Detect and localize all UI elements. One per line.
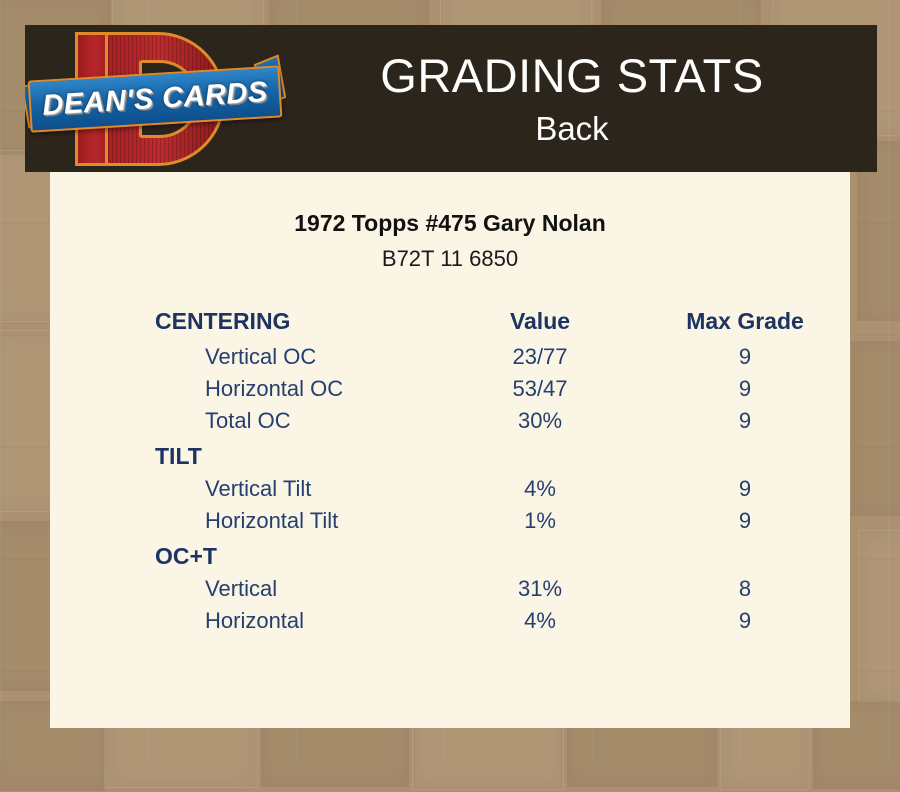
stat-max-grade: 9 (640, 505, 850, 537)
stat-value: 31% (440, 573, 640, 605)
stat-max-grade: 8 (640, 573, 850, 605)
column-header-centering: CENTERING (50, 308, 440, 341)
deans-cards-logo[interactable]: DEAN'S CARDS (25, 25, 287, 172)
logo-wordmark: DEAN'S CARDS (41, 76, 268, 123)
section-label: TILT (50, 437, 850, 473)
stat-label: Vertical Tilt (50, 473, 440, 505)
stat-value: 4% (440, 473, 640, 505)
table-row: Total OC30%9 (50, 405, 850, 437)
table-body: Vertical OC23/779Horizontal OC53/479Tota… (50, 341, 850, 637)
page-title: GRADING STATS (287, 52, 857, 99)
stat-label: Horizontal (50, 605, 440, 637)
header-title-block: GRADING STATS Back (287, 52, 877, 145)
section-label: OC+T (50, 537, 850, 573)
column-header-value: Value (440, 308, 640, 341)
section-header-row: OC+T (50, 537, 850, 573)
stat-max-grade: 9 (640, 341, 850, 373)
page-subtitle: Back (287, 112, 857, 145)
stat-label: Vertical OC (50, 341, 440, 373)
stat-label: Horizontal Tilt (50, 505, 440, 537)
stat-value: 4% (440, 605, 640, 637)
stat-label: Vertical (50, 573, 440, 605)
stat-max-grade: 9 (640, 373, 850, 405)
stat-label: Total OC (50, 405, 440, 437)
table-row: Horizontal4%9 (50, 605, 850, 637)
stat-value: 30% (440, 405, 640, 437)
table-header-row: CENTERING Value Max Grade (50, 308, 850, 341)
background-card-tile (850, 340, 900, 517)
stat-value: 53/47 (440, 373, 640, 405)
logo-ribbon-banner: DEAN'S CARDS (28, 65, 283, 132)
table-head: CENTERING Value Max Grade (50, 308, 850, 341)
stat-value: 23/77 (440, 341, 640, 373)
stat-value: 1% (440, 505, 640, 537)
section-header-row: TILT (50, 437, 850, 473)
page-background: DEAN'S CARDS GRADING STATS Back 1972 Top… (0, 0, 900, 760)
stat-label: Horizontal OC (50, 373, 440, 405)
table-row: Vertical OC23/779 (50, 341, 850, 373)
card-identifier: B72T 11 6850 (50, 246, 850, 272)
stat-max-grade: 9 (640, 405, 850, 437)
table-row: Horizontal OC53/479 (50, 373, 850, 405)
table-row: Vertical31%8 (50, 573, 850, 605)
background-card-tile (858, 530, 900, 702)
card-title: 1972 Topps #475 Gary Nolan (50, 210, 850, 237)
grading-stats-table: CENTERING Value Max Grade Vertical OC23/… (50, 308, 850, 637)
column-header-max-grade: Max Grade (640, 308, 850, 341)
stat-max-grade: 9 (640, 605, 850, 637)
header-bar: DEAN'S CARDS GRADING STATS Back (25, 25, 877, 172)
table-row: Vertical Tilt4%9 (50, 473, 850, 505)
stats-panel: 1972 Topps #475 Gary Nolan B72T 11 6850 … (50, 172, 850, 728)
stat-max-grade: 9 (640, 473, 850, 505)
table-row: Horizontal Tilt1%9 (50, 505, 850, 537)
